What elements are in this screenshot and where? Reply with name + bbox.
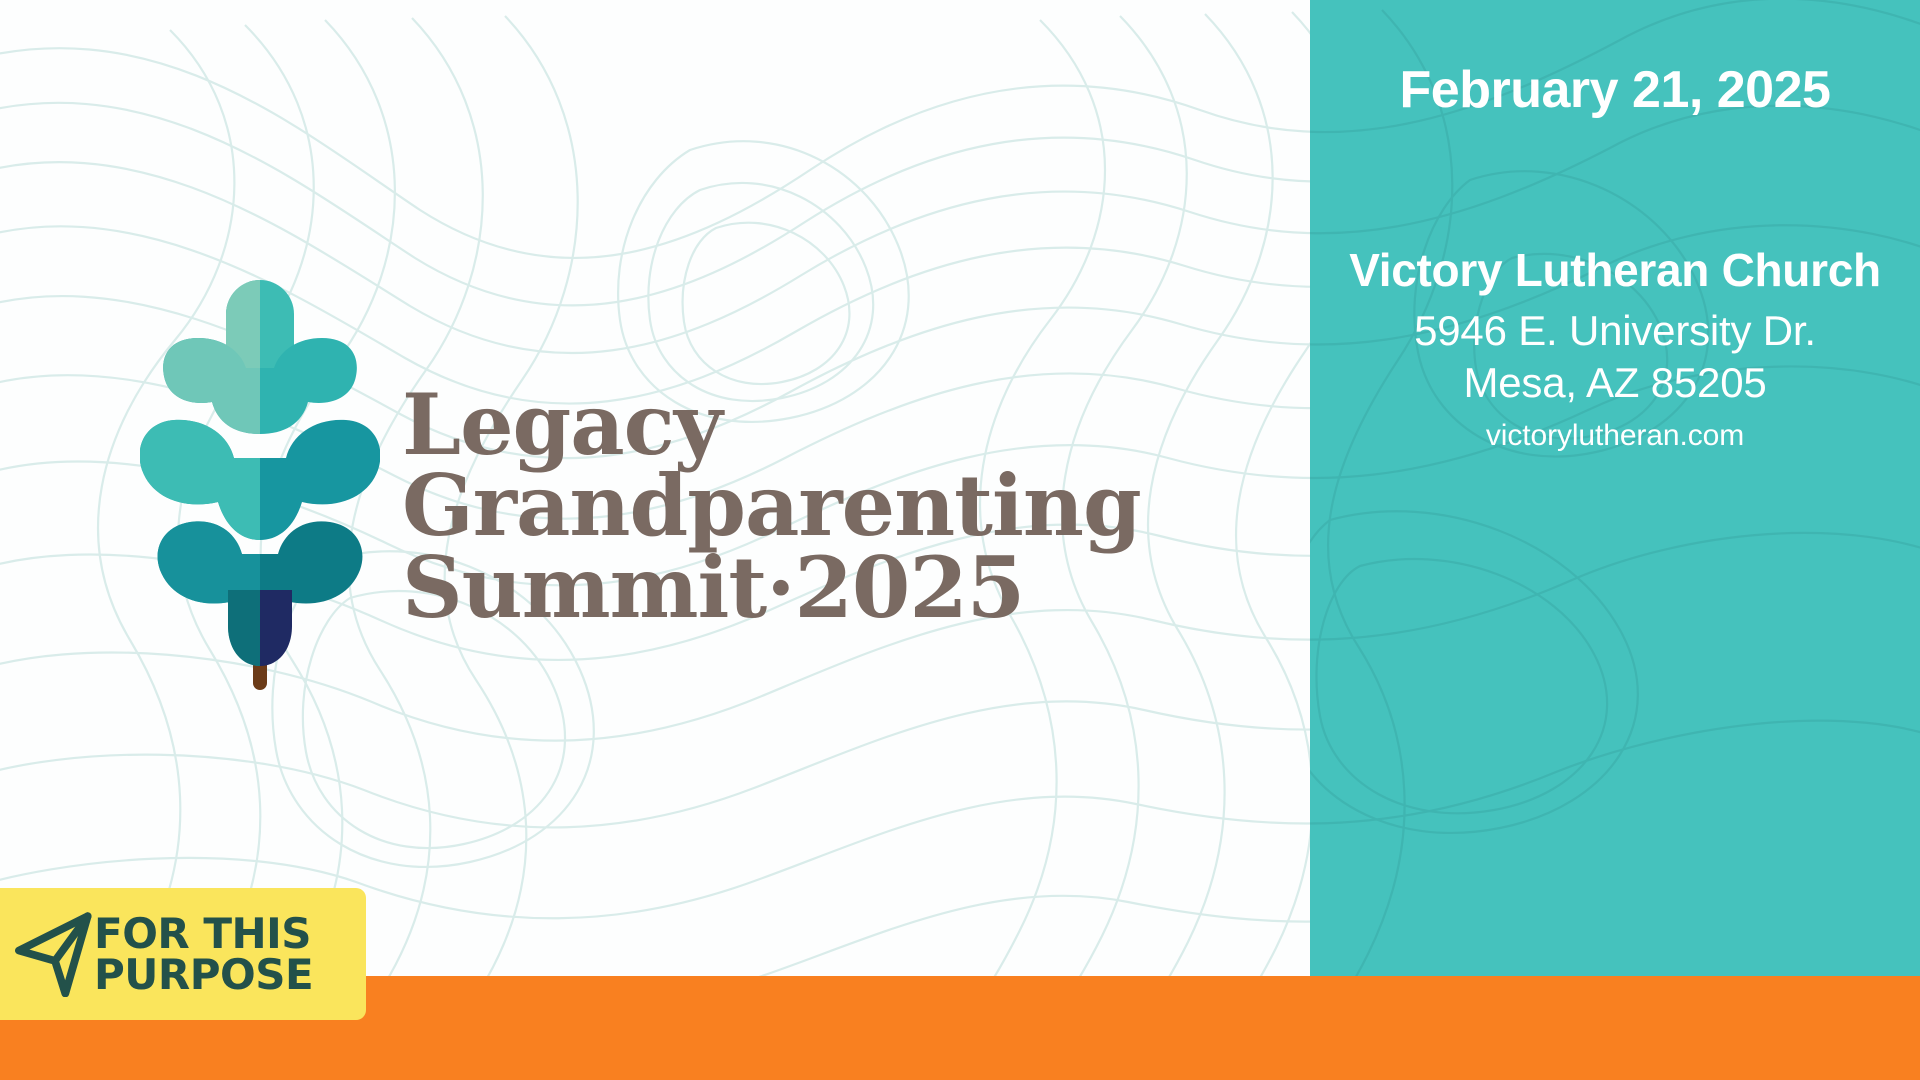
venue-street-address: 5946 E. University Dr. [1348, 305, 1882, 356]
wordmark-line-3: Summit·2025 [402, 547, 1141, 628]
venue-info-block: Victory Lutheran Church 5946 E. Universi… [1348, 243, 1882, 455]
summit-logo-lockup: Legacy Grandparenting Summit·2025 [140, 270, 1141, 690]
sponsor-badge-text: FOR THIS PURPOSE [94, 913, 313, 995]
paper-plane-arrow-icon [12, 911, 98, 997]
event-date: February 21, 2025 [1310, 62, 1920, 119]
venue-website[interactable]: victorylutheran.com [1348, 416, 1882, 455]
oak-leaf-mark-icon [140, 270, 380, 690]
poster-canvas: February 21, 2025 Victory Lutheran Churc… [0, 0, 1920, 1080]
venue-name: Victory Lutheran Church [1348, 243, 1882, 297]
wordmark-line-2: Grandparenting [402, 465, 1141, 546]
summit-wordmark: Legacy Grandparenting Summit·2025 [402, 384, 1141, 628]
sponsor-line-2: PURPOSE [94, 954, 313, 995]
venue-city-state-zip: Mesa, AZ 85205 [1348, 357, 1882, 408]
sponsor-badge[interactable]: FOR THIS PURPOSE [0, 888, 366, 1020]
wordmark-line-1: Legacy [402, 384, 1141, 465]
sponsor-line-1: FOR THIS [94, 913, 313, 954]
event-details-panel: February 21, 2025 Victory Lutheran Churc… [1310, 0, 1920, 976]
